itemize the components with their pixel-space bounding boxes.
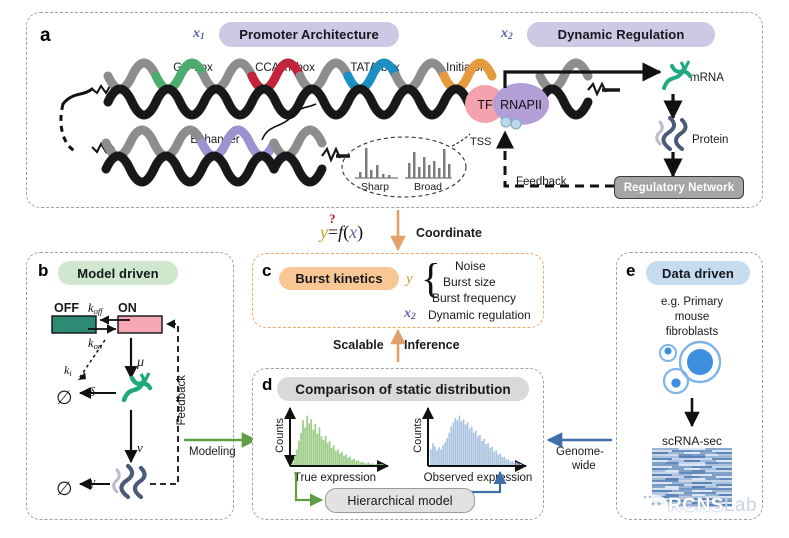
panel-e-graphics [0,0,789,538]
figure-root: a x1 Promoter Architecture x2 Dynamic Re… [0,0,789,538]
cell-cluster-icon [660,342,720,393]
watermark-lab: Lab [724,495,757,516]
watermark-rcns: RCNS [668,495,724,516]
watermark-text: RCNSLab [668,495,757,517]
